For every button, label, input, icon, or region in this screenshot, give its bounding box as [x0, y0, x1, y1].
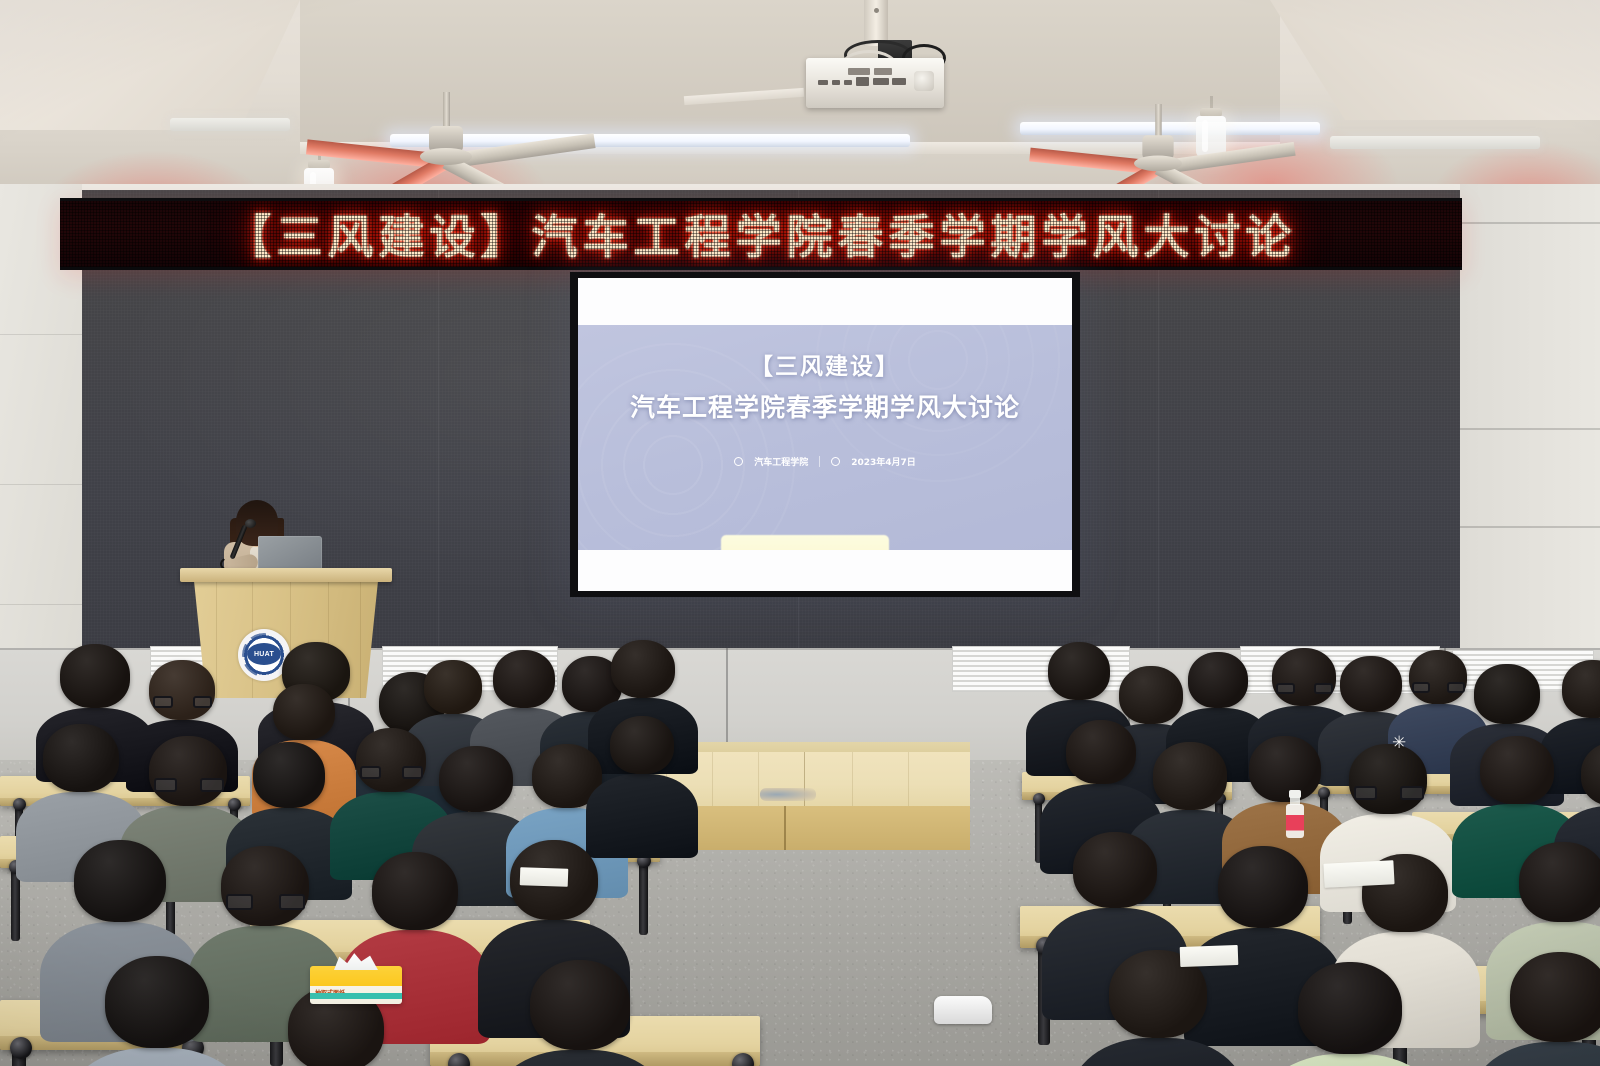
slide-meta-date: 2023年4月7日: [851, 455, 916, 468]
ceiling-projector: [806, 0, 946, 112]
head: [1581, 742, 1600, 806]
audience-member: [64, 956, 250, 1066]
projector-port-panel: [818, 68, 908, 90]
star-decoration-icon: ✳: [1392, 734, 1406, 751]
head: [273, 684, 335, 740]
torso: [490, 1050, 670, 1066]
fluorescent-tube-light: [170, 118, 290, 131]
projection-screen-surface: 【三风建设】 汽车工程学院春季学期学风大讨论 汽车工程学院 2023年4月7日: [578, 278, 1072, 591]
slide-accent-band: [721, 535, 889, 550]
microphone-head: [245, 519, 256, 528]
lecture-hall-photo: 【三风建设】汽车工程学院春季学期学风大讨论 【三风建设】 汽车工程学院春季学期学…: [0, 0, 1600, 1066]
fluorescent-tube-light: [1020, 122, 1320, 135]
pendant-lamp: [1196, 96, 1226, 160]
audience-member: [586, 716, 698, 858]
ceiling: [0, 0, 1600, 200]
slide-title: 【三风建设】: [578, 347, 1072, 381]
eyeglasses: [200, 778, 223, 792]
head: [439, 746, 513, 812]
podium-top: [180, 568, 392, 582]
head: [1188, 652, 1248, 708]
torso: [1070, 1038, 1246, 1066]
torso: [1256, 1054, 1444, 1066]
fan-hub: [1134, 156, 1182, 172]
slide-meta-organization: 汽车工程学院: [754, 455, 808, 468]
fan-downrod: [1155, 104, 1161, 137]
audience-member: [1256, 962, 1444, 1066]
head: [372, 852, 458, 930]
head: [610, 716, 674, 774]
eyeglasses: [154, 778, 177, 792]
head: [43, 724, 119, 792]
ceiling-soffit-left: [0, 0, 300, 130]
tissue-box: 抽取式面纸: [310, 952, 402, 1004]
audience-member: [1470, 952, 1600, 1066]
head: [60, 644, 130, 708]
ceiling-soffit-right: [1270, 0, 1600, 120]
eyeglasses: [1412, 682, 1429, 693]
eyeglasses: [153, 696, 173, 708]
fluorescent-tube-light: [390, 134, 910, 147]
desk-knob: [10, 1037, 32, 1059]
fluorescent-tube-light: [1330, 136, 1540, 149]
head: [105, 956, 209, 1048]
head: [74, 840, 166, 922]
head: [1480, 736, 1554, 804]
circle-outline-icon: [831, 457, 840, 466]
eyeglasses: [1400, 786, 1423, 800]
audience-member: [1070, 950, 1246, 1066]
head: [1519, 842, 1600, 922]
fan-hub: [420, 148, 472, 165]
audience-member: [490, 960, 670, 1066]
slide-subtitle: 汽车工程学院春季学期学风大讨论: [578, 388, 1072, 424]
right-wall-panel: [1460, 184, 1600, 656]
head: [611, 640, 675, 698]
presentation-slide: 【三风建设】 汽车工程学院春季学期学风大讨论 汽车工程学院 2023年4月7日: [578, 325, 1072, 550]
head: [1562, 660, 1600, 718]
eyeglasses: [279, 894, 305, 910]
bottle-body: [1286, 804, 1304, 838]
eyeglasses: [360, 766, 381, 779]
head: [1249, 736, 1321, 802]
head: [1218, 846, 1308, 928]
led-scrolling-banner: 【三风建设】汽车工程学院春季学期学风大讨论: [60, 198, 1462, 270]
head: [1474, 664, 1540, 724]
slide-meta-row: 汽车工程学院 2023年4月7日: [578, 455, 1072, 468]
projection-screen: 【三风建设】 汽车工程学院春季学期学风大讨论 汽车工程学院 2023年4月7日: [570, 272, 1080, 597]
eyeglasses: [1354, 786, 1377, 800]
head: [1153, 742, 1227, 810]
head: [1298, 962, 1402, 1054]
notebook-paper: [520, 867, 569, 887]
head: [1510, 952, 1600, 1042]
tissue-sheet: [334, 952, 378, 970]
head: [149, 736, 227, 806]
circle-outline-icon: [734, 457, 743, 466]
eyeglasses: [1276, 683, 1295, 695]
desk-knob: [732, 1053, 754, 1066]
divider: [819, 456, 820, 467]
head: [1349, 744, 1427, 814]
led-banner-text: 【三风建设】汽车工程学院春季学期学风大讨论: [60, 201, 1462, 267]
head: [530, 960, 630, 1050]
head: [1073, 832, 1157, 908]
eyeglasses: [226, 894, 252, 910]
head: [221, 846, 309, 926]
desk-litter: [760, 788, 816, 801]
head: [253, 742, 325, 808]
notebook-paper: [1180, 945, 1239, 967]
laptop-screen: [258, 536, 322, 572]
desk-leg: [639, 858, 648, 935]
notebook-paper: [1323, 860, 1394, 888]
projector-lens: [914, 71, 934, 91]
torso: [64, 1048, 250, 1066]
fan-downrod: [443, 92, 450, 128]
tissue-box-stripe: [310, 993, 402, 999]
torso: [1470, 1042, 1600, 1066]
head: [149, 660, 215, 720]
eyeglasses: [193, 696, 213, 708]
projector-body: [806, 58, 944, 108]
shoe: [934, 996, 992, 1024]
